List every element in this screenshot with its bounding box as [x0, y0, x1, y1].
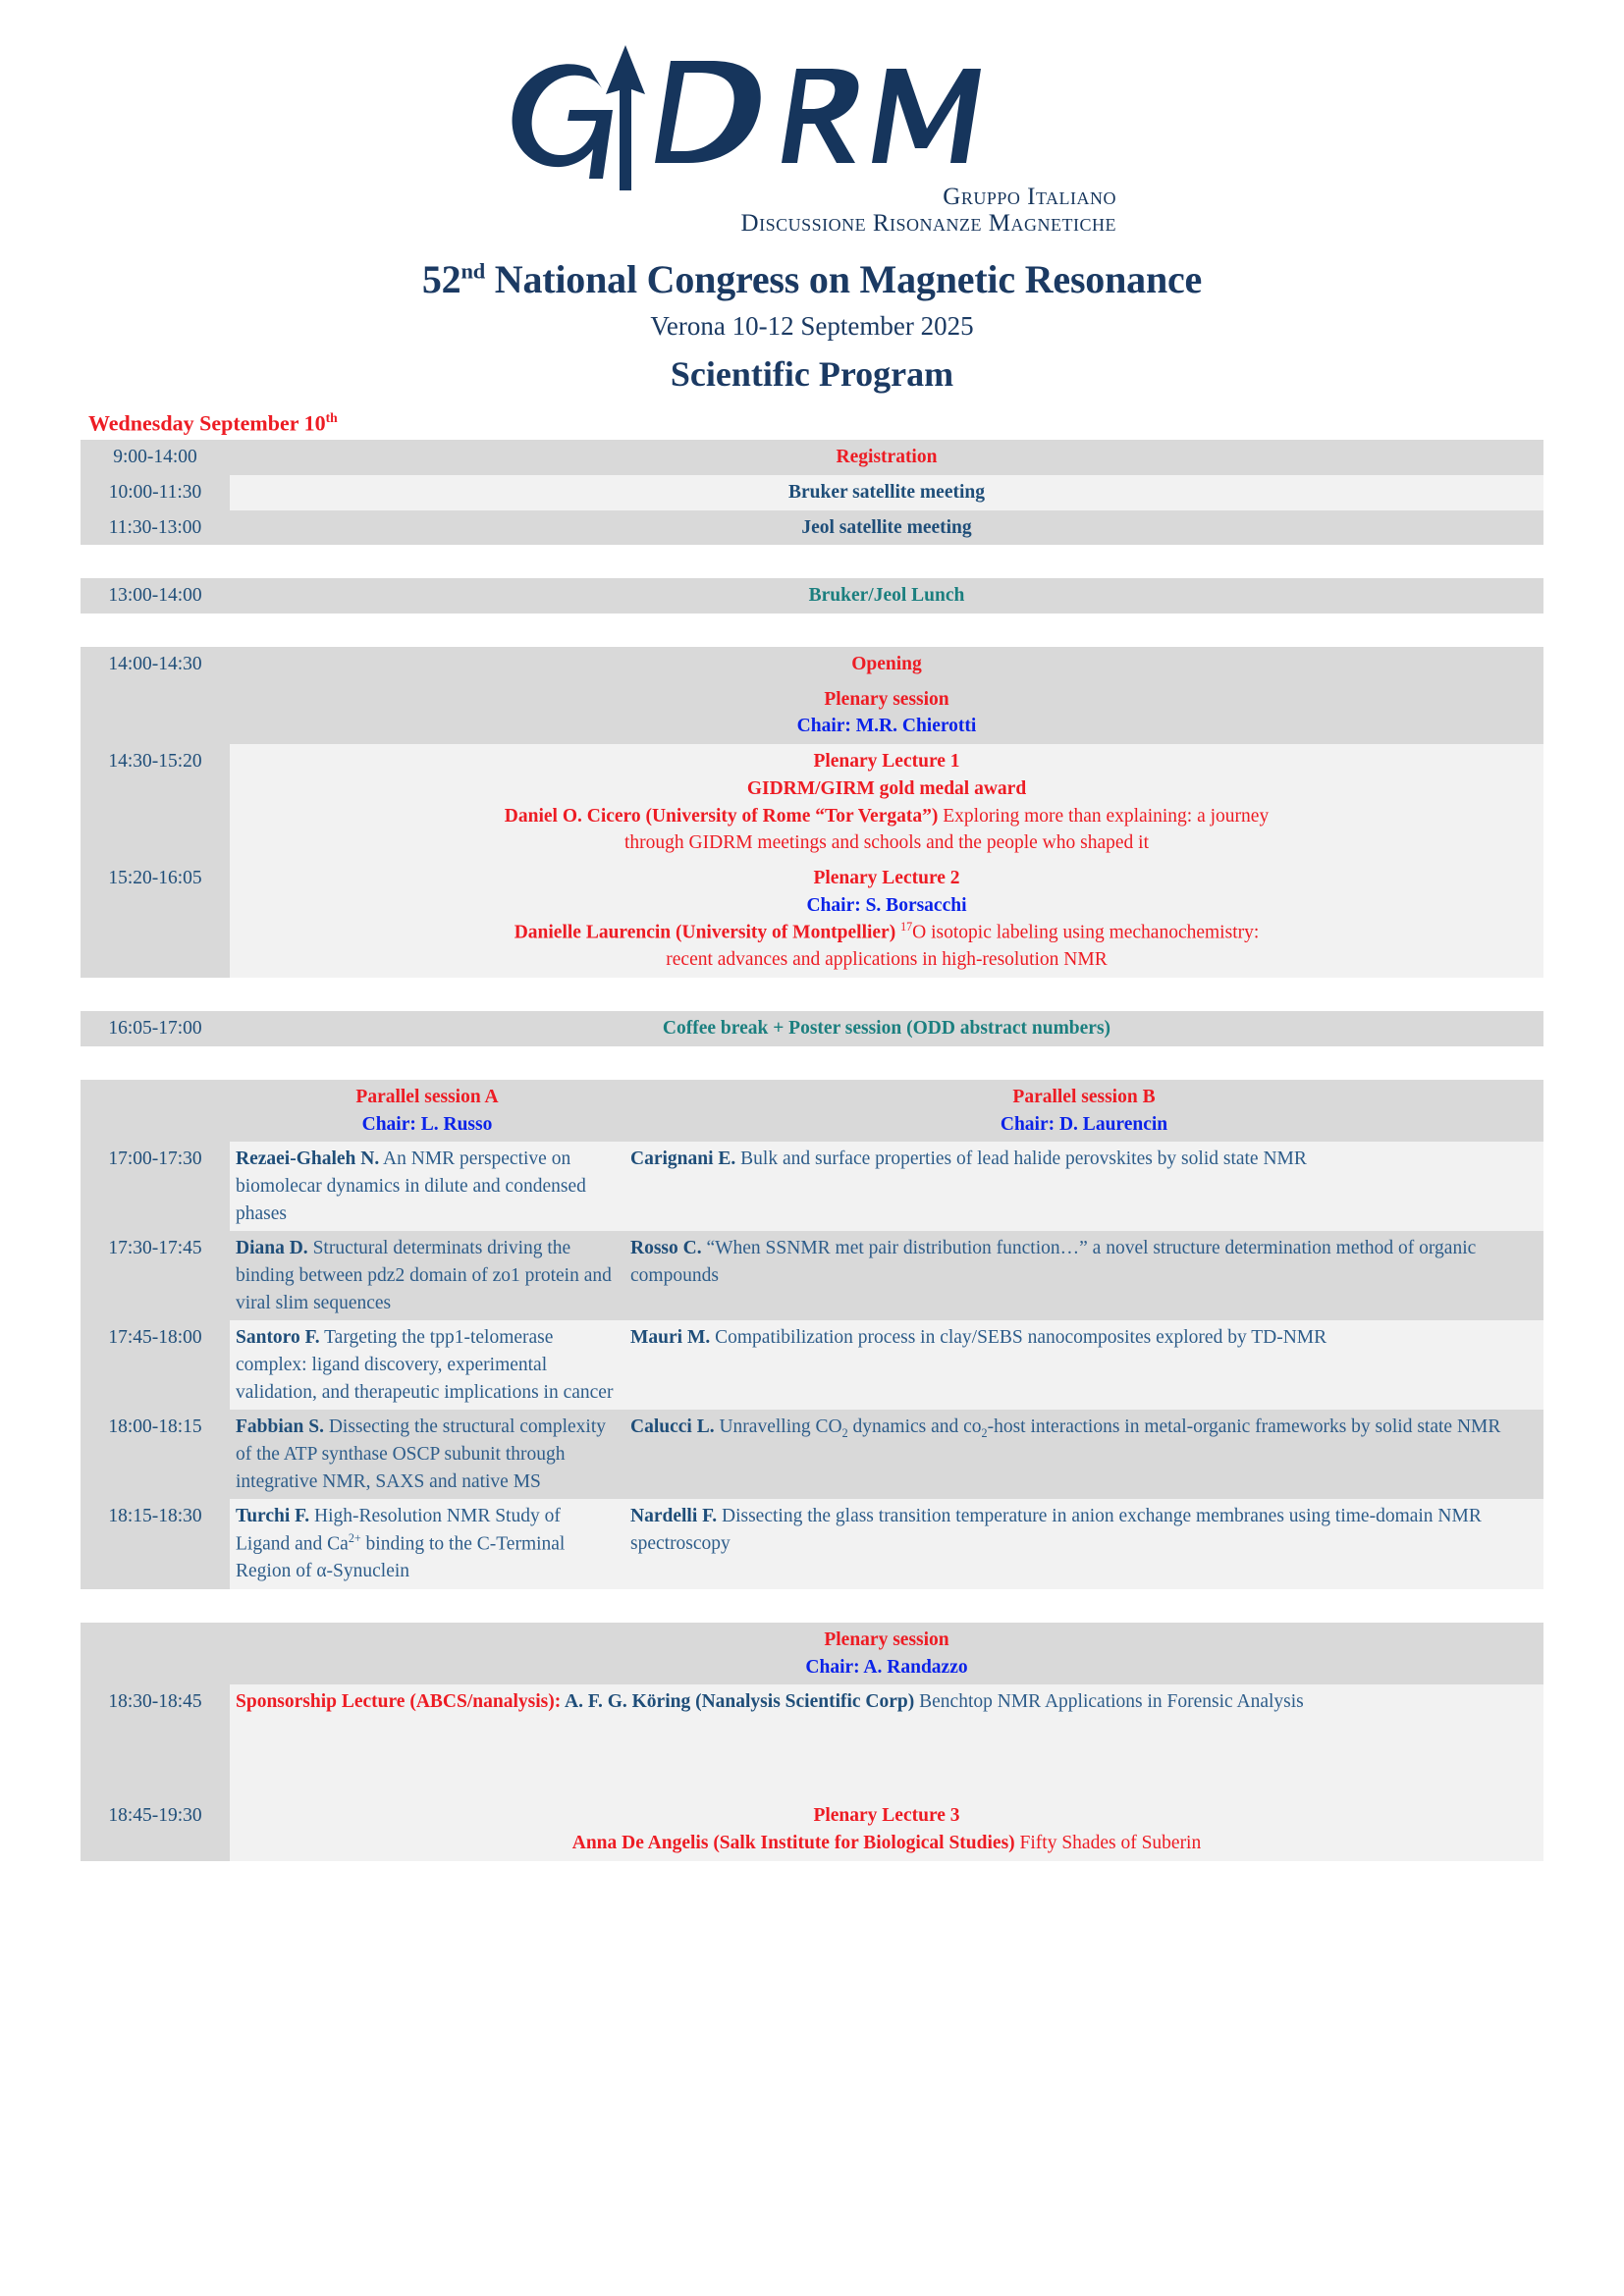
plenary-lecture-3-talk: Fifty Shades of Suberin	[1015, 1833, 1202, 1853]
plenary-lecture-2-speaker: Danielle Laurencin (University of Montpe…	[514, 923, 896, 943]
time-cell: 13:00-14:00	[81, 578, 230, 614]
table-row: 13:00-14:00 Bruker/Jeol Lunch	[81, 578, 1543, 614]
congress-ordinal: nd	[460, 259, 485, 284]
plenary-session-1-label: Plenary session	[236, 686, 1538, 714]
plenary-session-2-cell: Plenary session Chair: A. Randazzo	[230, 1623, 1543, 1684]
plenary-lecture-3-label: Plenary Lecture 3	[236, 1802, 1538, 1830]
table-row: 9:00-14:00 Registration	[81, 440, 1543, 475]
table-row: 18:00-18:15 Fabbian S. Dissecting the st…	[81, 1410, 1543, 1499]
logo-subtitle-line2: Discussione Risonanze Magnetiche	[508, 211, 1116, 238]
table-row: 14:00-14:30 Opening	[81, 647, 1543, 682]
talk-speaker: Carignani E.	[630, 1148, 735, 1169]
gidrm-wordmark-icon	[508, 33, 1116, 190]
parallel-session-b-header: Parallel session B Chair: D. Laurencin	[624, 1080, 1543, 1142]
talk-cell-a: Fabbian S. Dissecting the structural com…	[230, 1410, 624, 1499]
plenary-lecture-1-talk-line2: through GIDRM meetings and schools and t…	[236, 829, 1538, 857]
time-cell: 14:00-14:30	[81, 647, 230, 682]
talk-cell-a: Santoro F. Targeting the tpp1-telomerase…	[230, 1320, 624, 1410]
parallel-session-a-header: Parallel session A Chair: L. Russo	[230, 1080, 624, 1142]
talk-cell-a: Diana D. Structural determinats driving …	[230, 1231, 624, 1320]
gidrm-logo: Gruppo Italiano Discussione Risonanze Ma…	[81, 33, 1543, 237]
row-spacer	[81, 614, 1543, 647]
talk-speaker: Mauri M.	[630, 1327, 710, 1348]
table-row: Plenary session Chair: M.R. Chierotti	[81, 682, 1543, 744]
congress-title-text: National Congress on Magnetic Resonance	[485, 257, 1202, 301]
plenary-lecture-2-talk-line2: recent advances and applications in high…	[236, 946, 1538, 974]
row-spacer	[81, 545, 1543, 578]
table-row: 11:30-13:00 Jeol satellite meeting	[81, 510, 1543, 546]
plenary-lecture-2-talk-line1: O isotopic labeling using mechanochemist…	[912, 923, 1259, 943]
row-spacer	[81, 1046, 1543, 1080]
table-row: 18:15-18:30 Turchi F. High-Resolution NM…	[81, 1499, 1543, 1589]
talk-cell-b: Nardelli F. Dissecting the glass transit…	[624, 1499, 1543, 1589]
table-row: 17:30-17:45 Diana D. Structural determin…	[81, 1231, 1543, 1320]
program-page: Gruppo Italiano Discussione Risonanze Ma…	[0, 0, 1624, 2296]
talk-title: Compatibilization process in clay/SEBS n…	[710, 1327, 1326, 1348]
plenary-lecture-1-cell: Plenary Lecture 1 GIDRM/GIRM gold medal …	[230, 744, 1543, 861]
talk-speaker: Nardelli F.	[630, 1506, 717, 1526]
plenary-lecture-3-speaker: Anna De Angelis (Salk Institute for Biol…	[572, 1833, 1015, 1853]
table-row: Plenary session Chair: A. Randazzo	[81, 1623, 1543, 1684]
talk-speaker: Santoro F.	[236, 1327, 320, 1348]
time-cell: 18:30-18:45	[81, 1684, 230, 1798]
plenary-lecture-2-label: Plenary Lecture 2	[236, 865, 1538, 892]
opening-label: Opening	[230, 647, 1543, 682]
schedule-table: 9:00-14:00 Registration 10:00-11:30 Bruk…	[81, 440, 1543, 1860]
table-row: Parallel session A Chair: L. Russo Paral…	[81, 1080, 1543, 1142]
time-cell: 18:15-18:30	[81, 1499, 230, 1589]
time-cell: 18:45-19:30	[81, 1798, 230, 1860]
table-row: 15:20-16:05 Plenary Lecture 2 Chair: S. …	[81, 861, 1543, 978]
table-row: 18:45-19:30 Plenary Lecture 3 Anna De An…	[81, 1798, 1543, 1860]
time-cell: 16:05-17:00	[81, 1011, 230, 1046]
time-cell: 18:00-18:15	[81, 1410, 230, 1499]
talk-title: “When SSNMR met pair distribution functi…	[630, 1238, 1476, 1286]
time-cell: 17:45-18:00	[81, 1320, 230, 1410]
time-cell: 14:30-15:20	[81, 744, 230, 861]
time-cell-empty	[81, 682, 230, 744]
lunch-label: Bruker/Jeol Lunch	[230, 578, 1543, 614]
bruker-satellite-label: Bruker satellite meeting	[230, 475, 1543, 510]
day-label: Wednesday September 10	[88, 410, 326, 435]
parallel-session-a-title: Parallel session A	[236, 1084, 619, 1111]
day-heading: Wednesday September 10th	[88, 410, 1543, 436]
talk-title-post: -host interactions in metal-organic fram…	[988, 1416, 1501, 1437]
time-cell-empty	[81, 1080, 230, 1142]
plenary-lecture-1-label: Plenary Lecture 1	[236, 748, 1538, 775]
superscript-2plus: 2+	[349, 1531, 361, 1545]
plenary-lecture-1-talk-line1: Exploring more than explaining: a journe…	[938, 806, 1269, 827]
logo-subtitle-line1: Gruppo Italiano	[508, 185, 1116, 211]
table-row: 17:45-18:00 Santoro F. Targeting the tpp…	[81, 1320, 1543, 1410]
table-row: 16:05-17:00 Coffee break + Poster sessio…	[81, 1011, 1543, 1046]
talk-speaker: Diana D.	[236, 1238, 308, 1258]
registration-label: Registration	[230, 440, 1543, 475]
plenary-lecture-2-chair: Chair: S. Borsacchi	[236, 892, 1538, 920]
talk-cell-b: Calucci L. Unravelling CO2 dynamics and …	[624, 1410, 1543, 1499]
sponsorship-prefix: Sponsorship Lecture (ABCS/nanalysis):	[236, 1691, 565, 1712]
table-row: 14:30-15:20 Plenary Lecture 1 GIDRM/GIRM…	[81, 744, 1543, 861]
talk-speaker: Rosso C.	[630, 1238, 702, 1258]
coffee-break-label: Coffee break + Poster session (ODD abstr…	[230, 1011, 1543, 1046]
sponsorship-cell: Sponsorship Lecture (ABCS/nanalysis): A.…	[230, 1684, 1543, 1798]
talk-speaker: Rezaei-Ghaleh N.	[236, 1148, 379, 1169]
row-spacer	[81, 1589, 1543, 1623]
congress-date: Verona 10-12 September 2025	[81, 311, 1543, 342]
plenary-lecture-1-speaker: Daniel O. Cicero (University of Rome “To…	[505, 806, 939, 827]
talk-speaker: Calucci L.	[630, 1416, 715, 1437]
time-cell: 9:00-14:00	[81, 440, 230, 475]
time-cell: 10:00-11:30	[81, 475, 230, 510]
time-cell: 17:30-17:45	[81, 1231, 230, 1320]
talk-title-pre: Unravelling CO	[715, 1416, 842, 1437]
table-row: 18:30-18:45 Sponsorship Lecture (ABCS/na…	[81, 1684, 1543, 1798]
plenary-session-1-chair: Chair: M.R. Chierotti	[236, 713, 1538, 740]
time-cell: 15:20-16:05	[81, 861, 230, 978]
congress-number: 52	[422, 257, 461, 301]
plenary-lecture-3-cell: Plenary Lecture 3 Anna De Angelis (Salk …	[230, 1798, 1543, 1860]
plenary-session-1-cell: Plenary session Chair: M.R. Chierotti	[230, 682, 1543, 744]
plenary-lecture-1-award: GIDRM/GIRM gold medal award	[236, 775, 1538, 803]
talk-speaker: Turchi F.	[236, 1506, 309, 1526]
day-ordinal: th	[326, 410, 338, 425]
parallel-session-b-title: Parallel session B	[630, 1084, 1538, 1111]
table-row: 17:00-17:30 Rezaei-Ghaleh N. An NMR pers…	[81, 1142, 1543, 1231]
talk-speaker: Fabbian S.	[236, 1416, 324, 1437]
talk-cell-b: Rosso C. “When SSNMR met pair distributi…	[624, 1231, 1543, 1320]
parallel-session-b-chair: Chair: D. Laurencin	[630, 1111, 1538, 1139]
parallel-session-a-chair: Chair: L. Russo	[236, 1111, 619, 1139]
talk-title: Bulk and surface properties of lead hali…	[735, 1148, 1307, 1169]
sponsorship-talk: Benchtop NMR Applications in Forensic An…	[914, 1691, 1303, 1712]
talk-cell-a: Rezaei-Ghaleh N. An NMR perspective on b…	[230, 1142, 624, 1231]
sponsorship-speaker: A. F. G. Köring (Nanalysis Scientific Co…	[565, 1691, 914, 1712]
talk-cell-a: Turchi F. High-Resolution NMR Study of L…	[230, 1499, 624, 1589]
talk-cell-b: Carignani E. Bulk and surface properties…	[624, 1142, 1543, 1231]
plenary-lecture-2-isotope: 17	[900, 920, 912, 934]
talk-title-mid: dynamics and co	[848, 1416, 982, 1437]
program-title: Scientific Program	[81, 353, 1543, 395]
plenary-lecture-2-cell: Plenary Lecture 2 Chair: S. Borsacchi Da…	[230, 861, 1543, 978]
jeol-satellite-label: Jeol satellite meeting	[230, 510, 1543, 546]
row-spacer	[81, 978, 1543, 1011]
table-row: 10:00-11:30 Bruker satellite meeting	[81, 475, 1543, 510]
page-title: 52nd National Congress on Magnetic Reson…	[81, 256, 1543, 302]
talk-title: Dissecting the glass transition temperat…	[630, 1506, 1482, 1554]
talk-cell-b: Mauri M. Compatibilization process in cl…	[624, 1320, 1543, 1410]
time-cell: 17:00-17:30	[81, 1142, 230, 1231]
plenary-session-2-chair: Chair: A. Randazzo	[236, 1654, 1538, 1682]
time-cell: 11:30-13:00	[81, 510, 230, 546]
plenary-session-2-label: Plenary session	[236, 1627, 1538, 1654]
time-cell-empty	[81, 1623, 230, 1684]
